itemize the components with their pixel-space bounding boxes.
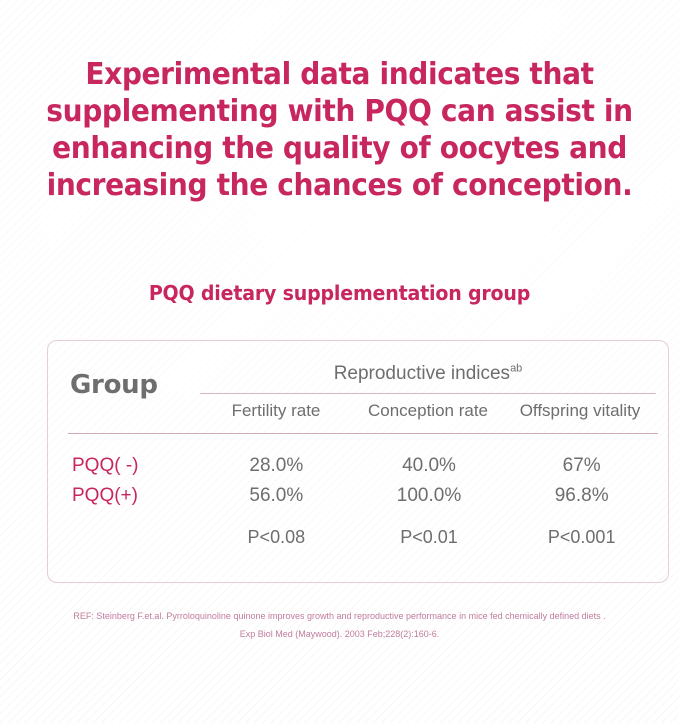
cell-offspring-vitality-pqq-positive: 96.8% [505, 485, 658, 507]
reference-line-1: REF: Steinberg F.et.al. Pyrroloquinoline… [0, 607, 679, 625]
headline-line-3: enhancing the quality of oocytes and [22, 130, 657, 167]
reference-line-2: Exp Biol Med (Maywood). 2003 Feb;228(2):… [0, 625, 679, 643]
page-headline: Experimental data indicates that supplem… [22, 56, 657, 204]
row-cells: 56.0% 100.0% 96.8% [200, 485, 658, 507]
reference-citation: REF: Steinberg F.et.al. Pyrroloquinoline… [0, 607, 679, 643]
table-group-header: Group [70, 370, 158, 400]
table-row: PQQ(+) 56.0% 100.0% 96.8% [68, 485, 658, 507]
table-column-headers: Fertility rate Conception rate Offspring… [200, 401, 656, 421]
infographic-page: Experimental data indicates that supplem… [0, 0, 679, 723]
cell-pvalue-fertility-rate: P<0.08 [200, 527, 353, 548]
column-header-conception-rate: Conception rate [352, 401, 504, 421]
table-subtitle: PQQ dietary supplementation group [17, 281, 662, 305]
cell-pvalue-conception-rate: P<0.01 [353, 527, 506, 548]
row-cells: 28.0% 40.0% 67% [200, 455, 658, 477]
indices-header-text: Reproductive indices [334, 363, 510, 384]
headline-line-4: increasing the chances of conception. [22, 167, 657, 204]
cell-pvalue-offspring-vitality: P<0.001 [505, 527, 658, 548]
cell-fertility-rate-pqq-positive: 56.0% [200, 485, 353, 507]
cell-conception-rate-pqq-positive: 100.0% [353, 485, 506, 507]
cell-offspring-vitality-pqq-negative: 67% [505, 455, 658, 477]
column-header-fertility-rate: Fertility rate [200, 401, 352, 421]
row-label-pqq-negative: PQQ( -) [68, 455, 200, 477]
row-cells: P<0.08 P<0.01 P<0.001 [200, 527, 658, 548]
table-row: PQQ( -) 28.0% 40.0% 67% [68, 455, 658, 477]
row-label-pqq-positive: PQQ(+) [68, 485, 200, 507]
divider-under-column-headers [68, 433, 658, 434]
cell-conception-rate-pqq-negative: 40.0% [353, 455, 506, 477]
divider-under-indices-header [200, 393, 656, 394]
table-row-pvalues: P<0.08 P<0.01 P<0.001 [68, 527, 658, 548]
cell-fertility-rate-pqq-negative: 28.0% [200, 455, 353, 477]
headline-line-1: Experimental data indicates that [22, 56, 657, 93]
headline-line-2: supplementing with PQQ can assist in [22, 93, 657, 130]
table-indices-header: Reproductive indicesab [200, 363, 656, 385]
indices-header-superscript: ab [510, 363, 522, 375]
results-table-card: Group Reproductive indicesab Fertility r… [47, 340, 669, 583]
column-header-offspring-vitality: Offspring vitality [504, 401, 656, 421]
